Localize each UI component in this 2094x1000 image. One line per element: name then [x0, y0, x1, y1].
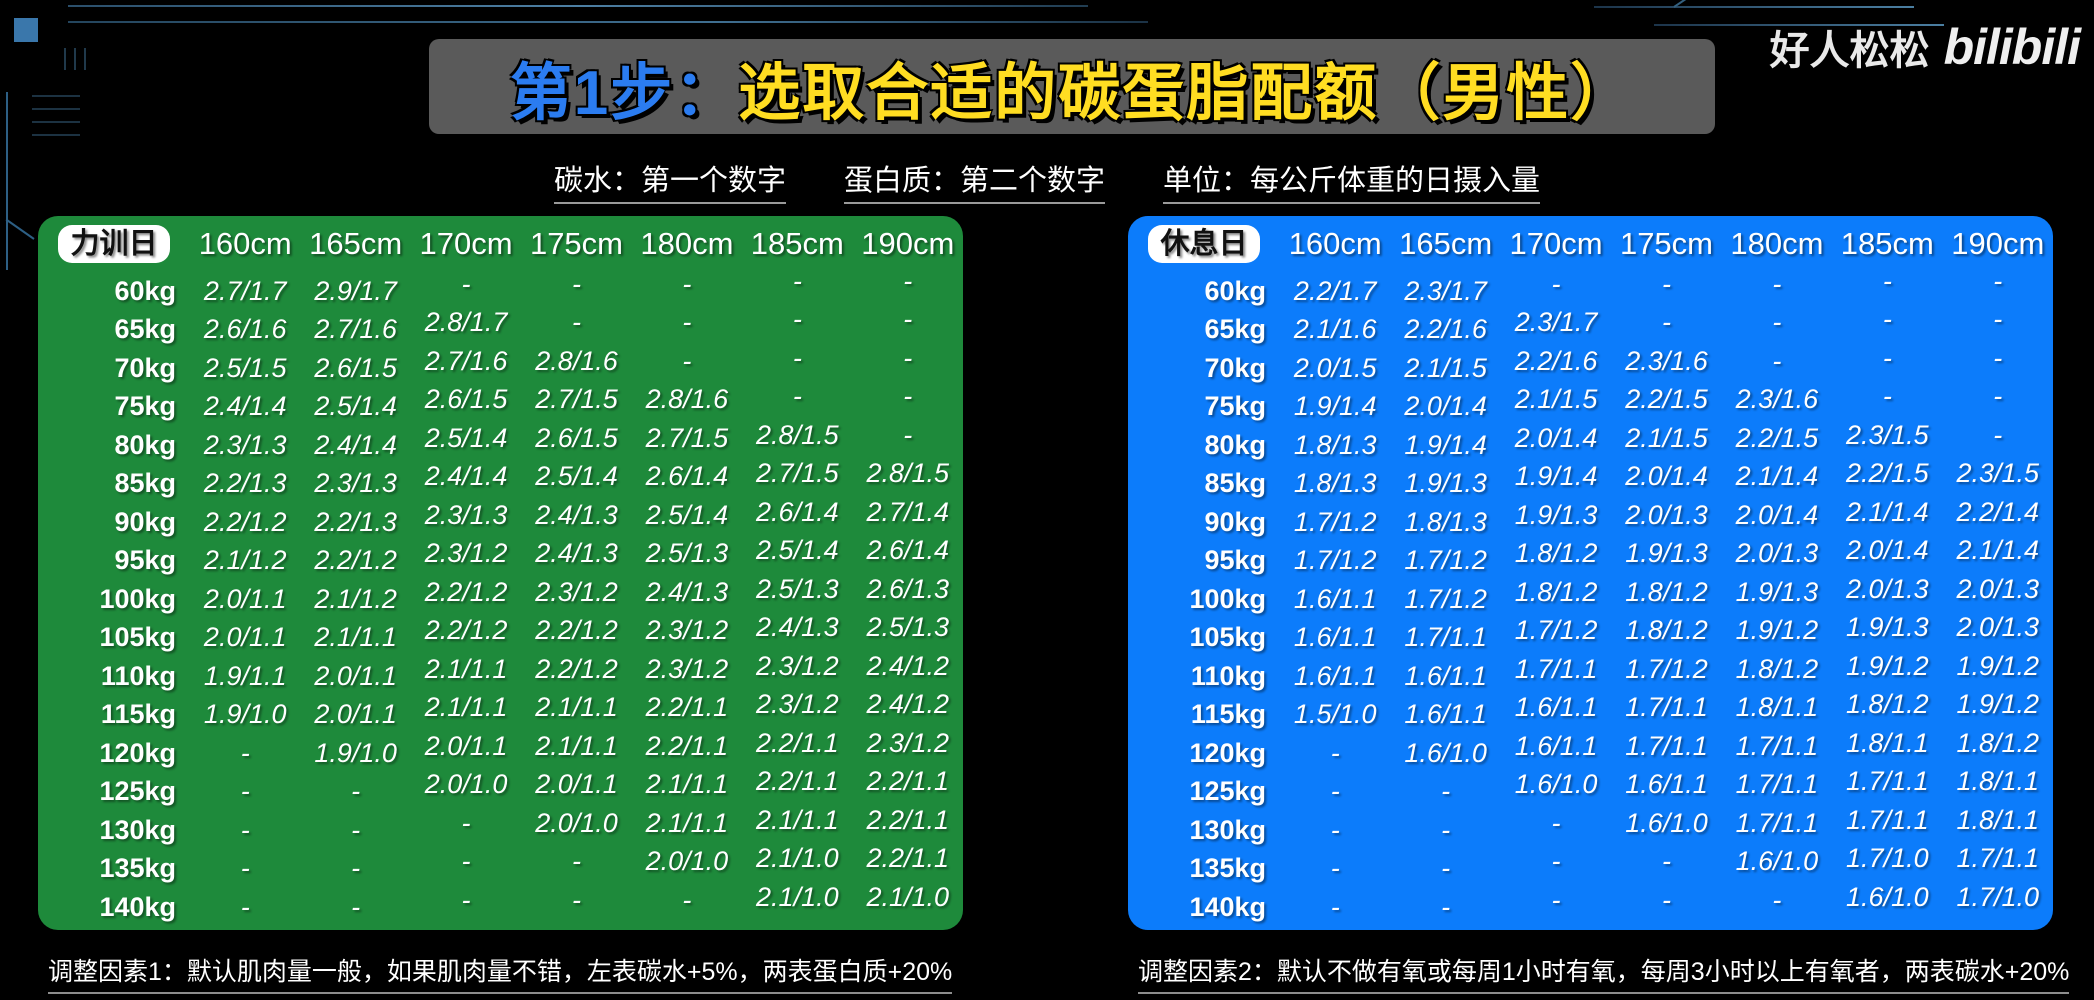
- row-header-105kg: 105kg: [1128, 619, 1280, 658]
- cell-120kg-185cm: 2.2/1.1: [742, 724, 852, 763]
- cell-70kg-185cm: -: [1832, 339, 1942, 378]
- cell-70kg-160cm: 2.5/1.5: [190, 349, 300, 388]
- cell-140kg-185cm: 1.6/1.0: [1832, 878, 1942, 917]
- rest-day-table-card: 休息日160cm165cm170cm175cm180cm185cm190cm60…: [1128, 216, 2053, 930]
- cell-85kg-190cm: 2.8/1.5: [853, 455, 963, 494]
- cell-130kg-190cm: 1.8/1.1: [1943, 801, 2053, 840]
- cell-135kg-165cm: -: [300, 850, 410, 889]
- cell-125kg-160cm: -: [190, 773, 300, 812]
- cell-85kg-165cm: 2.3/1.3: [300, 465, 410, 504]
- cell-90kg-185cm: 2.1/1.4: [1832, 493, 1942, 532]
- cell-115kg-170cm: 2.1/1.1: [411, 689, 521, 728]
- hud-tick-group-horizontal: [32, 95, 80, 136]
- cell-115kg-160cm: 1.5/1.0: [1280, 696, 1390, 735]
- cell-140kg-180cm: -: [632, 881, 742, 920]
- cell-100kg-185cm: 2.5/1.3: [742, 570, 852, 609]
- cell-80kg-185cm: 2.3/1.5: [1832, 416, 1942, 455]
- cell-140kg-160cm: -: [1280, 888, 1390, 927]
- column-header-170cm: 170cm: [1501, 216, 1611, 272]
- cell-75kg-180cm: 2.3/1.6: [1722, 381, 1832, 420]
- cell-75kg-160cm: 1.9/1.4: [1280, 388, 1390, 427]
- cell-115kg-185cm: 2.3/1.2: [742, 686, 852, 725]
- watermark: 好人松松 bilibili: [1770, 18, 2080, 76]
- cell-60kg-185cm: -: [1832, 262, 1942, 301]
- adjustment-note-2: 调整因素2：默认不做有氧或每周1小时有氧，每周3小时以上有氧者，两表碳水+20%: [1138, 952, 2069, 994]
- cell-100kg-185cm: 2.0/1.3: [1832, 570, 1942, 609]
- cell-85kg-175cm: 2.0/1.4: [1611, 458, 1721, 497]
- cell-60kg-170cm: -: [1501, 265, 1611, 304]
- cell-125kg-175cm: 2.0/1.1: [521, 766, 631, 805]
- cell-140kg-170cm: -: [411, 881, 521, 920]
- cell-105kg-170cm: 1.7/1.2: [1501, 612, 1611, 651]
- cell-135kg-180cm: 2.0/1.0: [632, 843, 742, 882]
- cell-65kg-175cm: -: [1611, 304, 1721, 343]
- row-header-125kg: 125kg: [38, 773, 190, 812]
- cell-115kg-190cm: 1.9/1.2: [1943, 686, 2053, 725]
- cell-95kg-175cm: 2.4/1.3: [521, 535, 631, 574]
- cell-105kg-190cm: 2.5/1.3: [853, 609, 963, 648]
- cell-120kg-170cm: 1.6/1.1: [1501, 727, 1611, 766]
- cell-110kg-170cm: 1.7/1.1: [1501, 650, 1611, 689]
- cell-60kg-175cm: -: [1611, 265, 1721, 304]
- cell-80kg-190cm: -: [1943, 416, 2053, 455]
- hud-diagonal-topright: [1673, 0, 1774, 8]
- cell-75kg-170cm: 2.6/1.5: [411, 381, 521, 420]
- cell-80kg-170cm: 2.0/1.4: [1501, 419, 1611, 458]
- column-header-180cm: 180cm: [1722, 216, 1832, 272]
- row-header-60kg: 60kg: [1128, 272, 1280, 311]
- row-header-115kg: 115kg: [1128, 696, 1280, 735]
- cell-140kg-190cm: 2.1/1.0: [853, 878, 963, 917]
- cell-60kg-180cm: -: [632, 265, 742, 304]
- column-header-160cm: 160cm: [1280, 216, 1390, 272]
- cell-85kg-180cm: 2.6/1.4: [632, 458, 742, 497]
- cell-85kg-160cm: 1.8/1.3: [1280, 465, 1390, 504]
- cell-65kg-165cm: 2.2/1.6: [1390, 311, 1500, 350]
- cell-90kg-190cm: 2.2/1.4: [1943, 493, 2053, 532]
- subtitle-legend: 碳水：第一个数字 蛋白质：第二个数字 单位：每公斤体重的日摄入量: [0, 157, 2094, 204]
- cell-120kg-190cm: 2.3/1.2: [853, 724, 963, 763]
- row-header-80kg: 80kg: [38, 426, 190, 465]
- cell-100kg-160cm: 2.0/1.1: [190, 580, 300, 619]
- cell-95kg-180cm: 2.0/1.3: [1722, 535, 1832, 574]
- cell-130kg-160cm: -: [190, 811, 300, 850]
- cell-125kg-180cm: 2.1/1.1: [632, 766, 742, 805]
- row-header-105kg: 105kg: [38, 619, 190, 658]
- cell-110kg-160cm: 1.9/1.1: [190, 657, 300, 696]
- cell-140kg-175cm: -: [521, 881, 631, 920]
- cell-95kg-185cm: 2.0/1.4: [1832, 532, 1942, 571]
- cell-135kg-180cm: 1.6/1.0: [1722, 843, 1832, 882]
- cell-80kg-165cm: 1.9/1.4: [1390, 426, 1500, 465]
- row-header-70kg: 70kg: [38, 349, 190, 388]
- row-header-75kg: 75kg: [1128, 388, 1280, 427]
- cell-75kg-175cm: 2.2/1.5: [1611, 381, 1721, 420]
- cell-105kg-190cm: 2.0/1.3: [1943, 609, 2053, 648]
- cell-135kg-165cm: -: [1390, 850, 1500, 889]
- cell-105kg-180cm: 1.9/1.2: [1722, 612, 1832, 651]
- row-header-60kg: 60kg: [38, 272, 190, 311]
- cell-140kg-165cm: -: [1390, 888, 1500, 927]
- cell-60kg-165cm: 2.9/1.7: [300, 272, 410, 311]
- row-header-120kg: 120kg: [1128, 734, 1280, 773]
- cell-65kg-165cm: 2.7/1.6: [300, 311, 410, 350]
- cell-105kg-160cm: 2.0/1.1: [190, 619, 300, 658]
- column-header-170cm: 170cm: [411, 216, 521, 272]
- bilibili-logo-icon: bilibili: [1944, 18, 2080, 76]
- cell-60kg-185cm: -: [742, 262, 852, 301]
- cell-70kg-185cm: -: [742, 339, 852, 378]
- cell-60kg-170cm: -: [411, 265, 521, 304]
- cell-85kg-175cm: 2.5/1.4: [521, 458, 631, 497]
- cell-90kg-185cm: 2.6/1.4: [742, 493, 852, 532]
- cell-115kg-165cm: 1.6/1.1: [1390, 696, 1500, 735]
- hud-square-decoration: [14, 18, 38, 42]
- cell-105kg-165cm: 2.1/1.1: [300, 619, 410, 658]
- cell-105kg-185cm: 1.9/1.3: [1832, 609, 1942, 648]
- badge-label: 力训日: [58, 225, 169, 263]
- cell-120kg-180cm: 1.7/1.1: [1722, 727, 1832, 766]
- cell-100kg-180cm: 1.9/1.3: [1722, 573, 1832, 612]
- cell-80kg-175cm: 2.1/1.5: [1611, 419, 1721, 458]
- cell-90kg-160cm: 1.7/1.2: [1280, 503, 1390, 542]
- cell-115kg-165cm: 2.0/1.1: [300, 696, 410, 735]
- cell-120kg-190cm: 1.8/1.2: [1943, 724, 2053, 763]
- row-header-90kg: 90kg: [1128, 503, 1280, 542]
- cell-75kg-175cm: 2.7/1.5: [521, 381, 631, 420]
- cell-140kg-190cm: 1.7/1.0: [1943, 878, 2053, 917]
- cell-70kg-160cm: 2.0/1.5: [1280, 349, 1390, 388]
- cell-110kg-180cm: 1.8/1.2: [1722, 650, 1832, 689]
- cell-95kg-175cm: 1.9/1.3: [1611, 535, 1721, 574]
- cell-85kg-190cm: 2.3/1.5: [1943, 455, 2053, 494]
- row-header-140kg: 140kg: [38, 888, 190, 927]
- cell-135kg-190cm: 2.2/1.1: [853, 840, 963, 879]
- cell-140kg-175cm: -: [1611, 881, 1721, 920]
- cell-95kg-190cm: 2.6/1.4: [853, 532, 963, 571]
- cell-65kg-160cm: 2.6/1.6: [190, 311, 300, 350]
- cell-130kg-180cm: 2.1/1.1: [632, 804, 742, 843]
- page-title-main: 选取合适的碳蛋脂配额（男性）: [738, 59, 1634, 128]
- cell-75kg-185cm: -: [742, 378, 852, 417]
- column-header-165cm: 165cm: [1390, 216, 1500, 272]
- row-header-130kg: 130kg: [1128, 811, 1280, 850]
- legend-carbs: 碳水：第一个数字: [554, 157, 786, 204]
- cell-110kg-190cm: 2.4/1.2: [853, 647, 963, 686]
- cell-105kg-185cm: 2.4/1.3: [742, 609, 852, 648]
- cell-130kg-185cm: 1.7/1.1: [1832, 801, 1942, 840]
- cell-60kg-190cm: -: [853, 262, 963, 301]
- cell-105kg-165cm: 1.7/1.1: [1390, 619, 1500, 658]
- column-header-180cm: 180cm: [632, 216, 742, 272]
- cell-65kg-160cm: 2.1/1.6: [1280, 311, 1390, 350]
- cell-105kg-160cm: 1.6/1.1: [1280, 619, 1390, 658]
- row-header-140kg: 140kg: [1128, 888, 1280, 927]
- cell-90kg-160cm: 2.2/1.2: [190, 503, 300, 542]
- cell-75kg-185cm: -: [1832, 378, 1942, 417]
- cell-135kg-160cm: -: [1280, 850, 1390, 889]
- cell-75kg-165cm: 2.0/1.4: [1390, 388, 1500, 427]
- cell-130kg-190cm: 2.2/1.1: [853, 801, 963, 840]
- cell-70kg-170cm: 2.7/1.6: [411, 342, 521, 381]
- cell-110kg-180cm: 2.3/1.2: [632, 650, 742, 689]
- cell-100kg-170cm: 2.2/1.2: [411, 573, 521, 612]
- cell-120kg-180cm: 2.2/1.1: [632, 727, 742, 766]
- cell-120kg-165cm: 1.6/1.0: [1390, 734, 1500, 773]
- cell-85kg-170cm: 2.4/1.4: [411, 458, 521, 497]
- cell-140kg-185cm: 2.1/1.0: [742, 878, 852, 917]
- cell-100kg-175cm: 1.8/1.2: [1611, 573, 1721, 612]
- adjustment-note-1: 调整因素1：默认肌肉量一般，如果肌肉量不错，左表碳水+5%，两表蛋白质+20%: [48, 952, 952, 994]
- hud-line-top-b: [68, 21, 1148, 23]
- cell-120kg-160cm: -: [1280, 734, 1390, 773]
- cell-75kg-190cm: -: [853, 378, 963, 417]
- cell-60kg-180cm: -: [1722, 265, 1832, 304]
- cell-130kg-160cm: -: [1280, 811, 1390, 850]
- cell-90kg-180cm: 2.5/1.4: [632, 496, 742, 535]
- cell-90kg-180cm: 2.0/1.4: [1722, 496, 1832, 535]
- training-day-table-card: 力训日160cm165cm170cm175cm180cm185cm190cm60…: [38, 216, 963, 930]
- cell-135kg-160cm: -: [190, 850, 300, 889]
- cell-95kg-165cm: 2.2/1.2: [300, 542, 410, 581]
- cell-110kg-175cm: 1.7/1.2: [1611, 650, 1721, 689]
- cell-125kg-180cm: 1.7/1.1: [1722, 766, 1832, 805]
- cell-95kg-170cm: 2.3/1.2: [411, 535, 521, 574]
- cell-70kg-190cm: -: [1943, 339, 2053, 378]
- cell-60kg-175cm: -: [521, 265, 631, 304]
- watermark-author: 好人松松: [1770, 18, 1930, 76]
- hud-diagonal-decoration: [6, 219, 35, 240]
- green-macro-table: 力训日160cm165cm170cm175cm180cm185cm190cm60…: [38, 216, 963, 927]
- cell-110kg-165cm: 2.0/1.1: [300, 657, 410, 696]
- cell-130kg-175cm: 2.0/1.0: [521, 804, 631, 843]
- cell-105kg-175cm: 2.2/1.2: [521, 612, 631, 651]
- row-header-85kg: 85kg: [38, 465, 190, 504]
- row-header-80kg: 80kg: [1128, 426, 1280, 465]
- cell-60kg-160cm: 2.7/1.7: [190, 272, 300, 311]
- page-title: 第1步：选取合适的碳蛋脂配额（男性）: [510, 42, 1635, 132]
- hud-line-topright-a: [1594, 6, 1914, 8]
- cell-100kg-170cm: 1.8/1.2: [1501, 573, 1611, 612]
- cell-85kg-160cm: 2.2/1.3: [190, 465, 300, 504]
- cell-125kg-175cm: 1.6/1.1: [1611, 766, 1721, 805]
- cell-80kg-165cm: 2.4/1.4: [300, 426, 410, 465]
- cell-75kg-190cm: -: [1943, 378, 2053, 417]
- cell-90kg-175cm: 2.0/1.3: [1611, 496, 1721, 535]
- cell-115kg-175cm: 2.1/1.1: [521, 689, 631, 728]
- cell-125kg-160cm: -: [1280, 773, 1390, 812]
- cell-85kg-170cm: 1.9/1.4: [1501, 458, 1611, 497]
- row-header-65kg: 65kg: [38, 311, 190, 350]
- cell-100kg-190cm: 2.0/1.3: [1943, 570, 2053, 609]
- cell-65kg-180cm: -: [632, 304, 742, 343]
- cell-65kg-190cm: -: [1943, 301, 2053, 340]
- cell-125kg-185cm: 2.2/1.1: [742, 763, 852, 802]
- cell-100kg-180cm: 2.4/1.3: [632, 573, 742, 612]
- cell-100kg-190cm: 2.6/1.3: [853, 570, 963, 609]
- cell-60kg-165cm: 2.3/1.7: [1390, 272, 1500, 311]
- cell-85kg-180cm: 2.1/1.4: [1722, 458, 1832, 497]
- hud-line-top-a: [68, 5, 1088, 7]
- cell-95kg-190cm: 2.1/1.4: [1943, 532, 2053, 571]
- cell-95kg-170cm: 1.8/1.2: [1501, 535, 1611, 574]
- cell-110kg-160cm: 1.6/1.1: [1280, 657, 1390, 696]
- cell-70kg-170cm: 2.2/1.6: [1501, 342, 1611, 381]
- cell-80kg-185cm: 2.8/1.5: [742, 416, 852, 455]
- cell-95kg-160cm: 1.7/1.2: [1280, 542, 1390, 581]
- cell-65kg-190cm: -: [853, 301, 963, 340]
- badge-label: 休息日: [1148, 225, 1259, 263]
- cell-125kg-170cm: 2.0/1.0: [411, 766, 521, 805]
- cell-135kg-170cm: -: [1501, 843, 1611, 882]
- cell-70kg-180cm: -: [1722, 342, 1832, 381]
- cell-125kg-190cm: 2.2/1.1: [853, 763, 963, 802]
- row-header-75kg: 75kg: [38, 388, 190, 427]
- cell-75kg-170cm: 2.1/1.5: [1501, 381, 1611, 420]
- cell-130kg-170cm: -: [1501, 804, 1611, 843]
- cell-125kg-190cm: 1.8/1.1: [1943, 763, 2053, 802]
- hud-tick-group-vertical: [64, 48, 86, 70]
- cell-110kg-185cm: 2.3/1.2: [742, 647, 852, 686]
- cell-70kg-180cm: -: [632, 342, 742, 381]
- cell-90kg-165cm: 1.8/1.3: [1390, 503, 1500, 542]
- legend-unit: 单位：每公斤体重的日摄入量: [1163, 157, 1540, 204]
- cell-75kg-160cm: 2.4/1.4: [190, 388, 300, 427]
- cell-115kg-185cm: 1.8/1.2: [1832, 686, 1942, 725]
- cell-90kg-165cm: 2.2/1.3: [300, 503, 410, 542]
- cell-60kg-190cm: -: [1943, 262, 2053, 301]
- cell-120kg-170cm: 2.0/1.1: [411, 727, 521, 766]
- cell-65kg-170cm: 2.8/1.7: [411, 304, 521, 343]
- row-header-100kg: 100kg: [1128, 580, 1280, 619]
- cell-115kg-160cm: 1.9/1.0: [190, 696, 300, 735]
- row-header-85kg: 85kg: [1128, 465, 1280, 504]
- cell-95kg-185cm: 2.5/1.4: [742, 532, 852, 571]
- page-title-bar: 第1步：选取合适的碳蛋脂配额（男性）: [429, 39, 1715, 134]
- cell-95kg-160cm: 2.1/1.2: [190, 542, 300, 581]
- row-header-100kg: 100kg: [38, 580, 190, 619]
- cell-110kg-170cm: 2.1/1.1: [411, 650, 521, 689]
- table-row: 140kg-----2.1/1.02.1/1.0: [38, 888, 963, 927]
- cell-135kg-170cm: -: [411, 843, 521, 882]
- cell-110kg-165cm: 1.6/1.1: [1390, 657, 1500, 696]
- cell-70kg-165cm: 2.6/1.5: [300, 349, 410, 388]
- column-header-175cm: 175cm: [1611, 216, 1721, 272]
- cell-80kg-190cm: -: [853, 416, 963, 455]
- cell-90kg-190cm: 2.7/1.4: [853, 493, 963, 532]
- column-header-160cm: 160cm: [190, 216, 300, 272]
- cell-95kg-165cm: 1.7/1.2: [1390, 542, 1500, 581]
- row-header-95kg: 95kg: [1128, 542, 1280, 581]
- cell-70kg-165cm: 2.1/1.5: [1390, 349, 1500, 388]
- cell-105kg-170cm: 2.2/1.2: [411, 612, 521, 651]
- cell-135kg-175cm: -: [1611, 843, 1721, 882]
- row-header-110kg: 110kg: [1128, 657, 1280, 696]
- cell-65kg-170cm: 2.3/1.7: [1501, 304, 1611, 343]
- cell-130kg-175cm: 1.6/1.0: [1611, 804, 1721, 843]
- cell-115kg-175cm: 1.7/1.1: [1611, 689, 1721, 728]
- cell-80kg-170cm: 2.5/1.4: [411, 419, 521, 458]
- row-header-130kg: 130kg: [38, 811, 190, 850]
- cell-110kg-190cm: 1.9/1.2: [1943, 647, 2053, 686]
- cell-140kg-165cm: -: [300, 888, 410, 927]
- cell-85kg-185cm: 2.7/1.5: [742, 455, 852, 494]
- row-header-90kg: 90kg: [38, 503, 190, 542]
- cell-130kg-165cm: -: [300, 811, 410, 850]
- cell-65kg-185cm: -: [1832, 301, 1942, 340]
- cell-120kg-185cm: 1.8/1.1: [1832, 724, 1942, 763]
- cell-120kg-165cm: 1.9/1.0: [300, 734, 410, 773]
- cell-65kg-185cm: -: [742, 301, 852, 340]
- cell-90kg-170cm: 2.3/1.3: [411, 496, 521, 535]
- cell-135kg-175cm: -: [521, 843, 631, 882]
- row-header-115kg: 115kg: [38, 696, 190, 735]
- cell-70kg-175cm: 2.3/1.6: [1611, 342, 1721, 381]
- cell-115kg-180cm: 2.2/1.1: [632, 689, 742, 728]
- cell-90kg-175cm: 2.4/1.3: [521, 496, 631, 535]
- cell-100kg-165cm: 2.1/1.2: [300, 580, 410, 619]
- cell-115kg-190cm: 2.4/1.2: [853, 686, 963, 725]
- cell-120kg-160cm: -: [190, 734, 300, 773]
- cell-65kg-180cm: -: [1722, 304, 1832, 343]
- cell-110kg-175cm: 2.2/1.2: [521, 650, 631, 689]
- cell-135kg-185cm: 2.1/1.0: [742, 840, 852, 879]
- cell-115kg-170cm: 1.6/1.1: [1501, 689, 1611, 728]
- cell-125kg-165cm: -: [1390, 773, 1500, 812]
- cell-130kg-170cm: -: [411, 804, 521, 843]
- cell-140kg-160cm: -: [190, 888, 300, 927]
- cell-115kg-180cm: 1.8/1.1: [1722, 689, 1832, 728]
- cell-95kg-180cm: 2.5/1.3: [632, 535, 742, 574]
- column-header-165cm: 165cm: [300, 216, 410, 272]
- cell-80kg-180cm: 2.2/1.5: [1722, 419, 1832, 458]
- row-header-110kg: 110kg: [38, 657, 190, 696]
- cell-130kg-180cm: 1.7/1.1: [1722, 804, 1832, 843]
- cell-130kg-165cm: -: [1390, 811, 1500, 850]
- row-header-65kg: 65kg: [1128, 311, 1280, 350]
- page-title-prefix: 第1步：: [510, 59, 738, 128]
- cell-70kg-175cm: 2.8/1.6: [521, 342, 631, 381]
- cell-125kg-185cm: 1.7/1.1: [1832, 763, 1942, 802]
- cell-135kg-185cm: 1.7/1.0: [1832, 840, 1942, 879]
- cell-105kg-175cm: 1.8/1.2: [1611, 612, 1721, 651]
- cell-90kg-170cm: 1.9/1.3: [1501, 496, 1611, 535]
- cell-70kg-190cm: -: [853, 339, 963, 378]
- cell-65kg-175cm: -: [521, 304, 631, 343]
- cell-85kg-185cm: 2.2/1.5: [1832, 455, 1942, 494]
- cell-100kg-175cm: 2.3/1.2: [521, 573, 631, 612]
- cell-110kg-185cm: 1.9/1.2: [1832, 647, 1942, 686]
- cell-135kg-190cm: 1.7/1.1: [1943, 840, 2053, 879]
- cell-80kg-180cm: 2.7/1.5: [632, 419, 742, 458]
- row-header-70kg: 70kg: [1128, 349, 1280, 388]
- row-header-120kg: 120kg: [38, 734, 190, 773]
- cell-140kg-170cm: -: [1501, 881, 1611, 920]
- cell-125kg-170cm: 1.6/1.0: [1501, 766, 1611, 805]
- cell-75kg-165cm: 2.5/1.4: [300, 388, 410, 427]
- blue-macro-table: 休息日160cm165cm170cm175cm180cm185cm190cm60…: [1128, 216, 2053, 927]
- cell-80kg-175cm: 2.6/1.5: [521, 419, 631, 458]
- cell-85kg-165cm: 1.9/1.3: [1390, 465, 1500, 504]
- cell-105kg-180cm: 2.3/1.2: [632, 612, 742, 651]
- row-header-125kg: 125kg: [1128, 773, 1280, 812]
- cell-120kg-175cm: 2.1/1.1: [521, 727, 631, 766]
- cell-100kg-165cm: 1.7/1.2: [1390, 580, 1500, 619]
- cell-60kg-160cm: 2.2/1.7: [1280, 272, 1390, 311]
- cell-80kg-160cm: 2.3/1.3: [190, 426, 300, 465]
- cell-125kg-165cm: -: [300, 773, 410, 812]
- cell-120kg-175cm: 1.7/1.1: [1611, 727, 1721, 766]
